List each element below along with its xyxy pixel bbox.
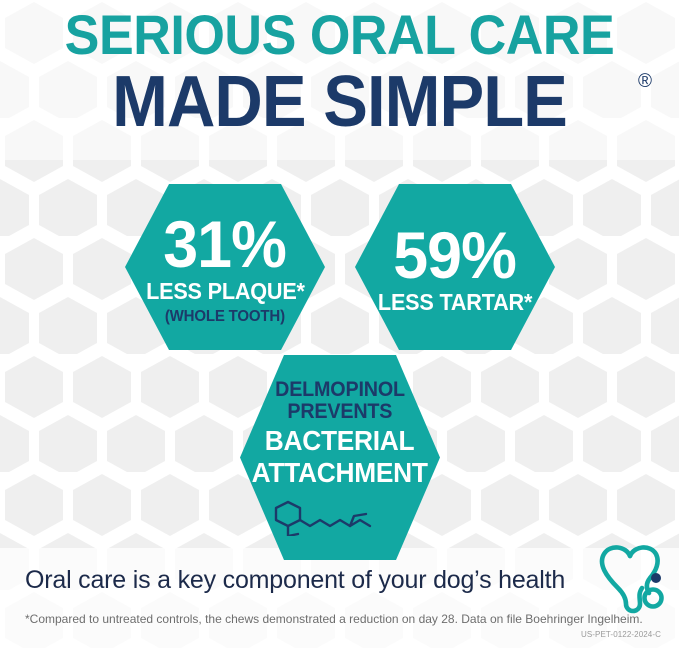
- delmopinol-top-line-2: PREVENTS: [288, 401, 393, 423]
- tagline-text: Oral care is a key component of your dog…: [25, 565, 565, 595]
- delmopinol-main-line-1: BACTERIAL: [265, 426, 415, 455]
- stat-number-plaque: 31%: [164, 213, 287, 275]
- headline-line-2-wrapper: MADE SIMPLE ®: [0, 64, 679, 140]
- delmopinol-top-line-1: DELMOPINOL: [275, 379, 405, 401]
- delmopinol-molecule-icon: [270, 496, 410, 536]
- heart-stethoscope-icon: [592, 538, 668, 614]
- material-code: US-PET-0122-2024-C: [581, 630, 661, 640]
- registered-trademark-icon: ®: [638, 72, 652, 91]
- headline-line-1: SERIOUS ORAL CARE: [24, 0, 655, 64]
- headline-block: SERIOUS ORAL CARE MADE SIMPLE ®: [0, 0, 679, 140]
- stat-number-tartar: 59%: [394, 224, 517, 286]
- delmopinol-main-line-2: ATTACHMENT: [252, 458, 428, 487]
- footnote-text: *Compared to untreated controls, the che…: [25, 612, 643, 627]
- poster-root: SERIOUS ORAL CARE MADE SIMPLE ® 31% LESS…: [0, 0, 679, 648]
- headline-line-2: MADE SIMPLE: [112, 64, 567, 140]
- stat-label-plaque: LESS PLAQUE*: [146, 279, 305, 304]
- stat-label-tartar: LESS TARTAR*: [378, 290, 532, 315]
- stat-sublabel-plaque: (WHOLE TOOTH): [165, 308, 285, 326]
